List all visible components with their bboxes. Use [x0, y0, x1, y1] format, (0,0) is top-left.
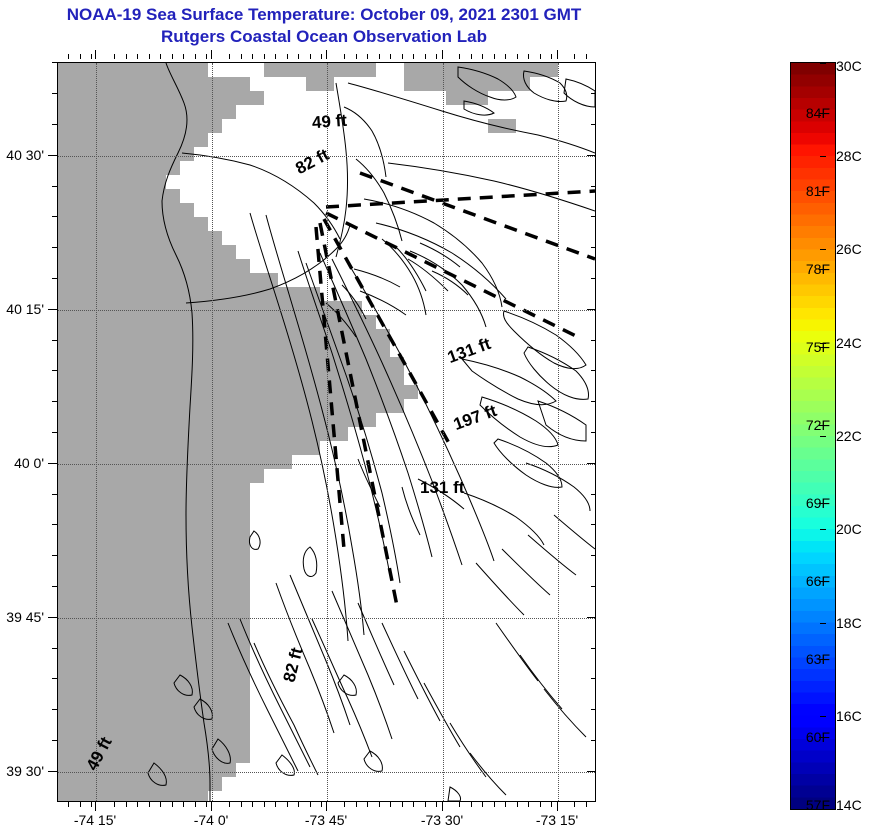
colorbar-gradient [790, 62, 836, 810]
gridline-horizontal [58, 772, 595, 773]
axis-tick-y-right [591, 494, 596, 495]
axis-tick-y-right [591, 186, 596, 187]
axis-label-y-4: 39 30' [0, 763, 44, 779]
axis-tick-y [52, 124, 57, 125]
axis-tick-y-right [591, 524, 596, 525]
axis-tick-x-top [356, 54, 357, 59]
axis-tick-y-right [591, 278, 596, 279]
axis-tick-y [52, 740, 57, 741]
depth-label-49ft-north: 49 ft [311, 111, 347, 133]
axis-tick-x-top-major [95, 50, 96, 59]
axis-tick-x [183, 802, 184, 807]
axis-tick-y-right-major [587, 617, 596, 618]
axis-tick-y [52, 62, 57, 63]
axis-tick-y-right [591, 555, 596, 556]
axis-tick-y-right [591, 586, 596, 587]
axis-tick-x-top [505, 54, 506, 59]
axis-tick-y [52, 555, 57, 556]
axis-tick-x-top [310, 54, 311, 59]
axis-tick-x-major [211, 802, 212, 811]
colorbar-label-30c: 30C [836, 58, 862, 74]
axis-tick-y-right [591, 124, 596, 125]
axis-tick-x-top [68, 54, 69, 59]
axis-tick-y-right [591, 340, 596, 341]
axis-tick-y-major [48, 771, 57, 772]
axis-tick-x-top [229, 54, 230, 59]
axis-tick-x [425, 802, 426, 807]
axis-tick-y-right [591, 432, 596, 433]
axis-tick-x [402, 802, 403, 807]
axis-tick-y-major [48, 309, 57, 310]
axis-tick-x [356, 802, 357, 807]
axis-tick-y [52, 586, 57, 587]
axis-tick-x [206, 802, 207, 807]
gridline-vertical [327, 63, 328, 801]
axis-tick-x-top [494, 54, 495, 59]
axis-tick-y [52, 278, 57, 279]
axis-tick-y-major [48, 155, 57, 156]
axis-tick-y-right [591, 678, 596, 679]
axis-tick-y-right [591, 247, 596, 248]
axis-tick-x [574, 802, 575, 807]
axis-tick-x-top-major [211, 50, 212, 59]
axis-tick-x-top [586, 54, 587, 59]
gridline-horizontal [58, 464, 595, 465]
axis-tick-x [505, 802, 506, 807]
axis-tick-y [52, 247, 57, 248]
colorbar-label-16c: 16C [836, 708, 862, 724]
depth-label-131ft-south: 131 ft [420, 478, 464, 498]
axis-label-x-0: -74 15' [74, 812, 116, 828]
axis-tick-x [229, 802, 230, 807]
axis-tick-x-top [149, 54, 150, 59]
axis-tick-x-top [252, 54, 253, 59]
axis-tick-y [52, 216, 57, 217]
axis-tick-y-right [591, 401, 596, 402]
axis-tick-y [52, 648, 57, 649]
axis-tick-x-top [126, 54, 127, 59]
axis-tick-y-right-major [587, 771, 596, 772]
axis-tick-x [68, 802, 69, 807]
axis-tick-x-top [528, 54, 529, 59]
gridline-vertical [96, 63, 97, 801]
colorbar-label-18c: 18C [836, 615, 862, 631]
axis-tick-y-right [591, 740, 596, 741]
axis-tick-x-top [402, 54, 403, 59]
axis-tick-x [172, 802, 173, 807]
axis-tick-x-top [321, 54, 322, 59]
axis-tick-x [436, 802, 437, 807]
axis-tick-y [52, 678, 57, 679]
axis-tick-x [114, 802, 115, 807]
temperature-colorbar[interactable] [790, 62, 836, 810]
axis-tick-x [91, 802, 92, 807]
axis-tick-x-top [367, 54, 368, 59]
axis-tick-x-top [574, 54, 575, 59]
axis-tick-y [52, 93, 57, 94]
axis-tick-x-top [540, 54, 541, 59]
axis-tick-y-right [591, 216, 596, 217]
axis-tick-x-top [287, 54, 288, 59]
axis-tick-x [390, 802, 391, 807]
axis-tick-x-top [195, 54, 196, 59]
axis-tick-x [551, 802, 552, 807]
axis-tick-x-top [459, 54, 460, 59]
colorbar-label-24c: 24C [836, 335, 862, 351]
axis-tick-x [287, 802, 288, 807]
gridline-vertical [212, 63, 213, 801]
axis-tick-x-top [160, 54, 161, 59]
axis-tick-y [52, 524, 57, 525]
axis-tick-x [517, 802, 518, 807]
axis-label-x-2: -73 45' [305, 812, 347, 828]
axis-tick-x-top [298, 54, 299, 59]
axis-tick-x-top [425, 54, 426, 59]
axis-tick-x [321, 802, 322, 807]
axis-tick-x-top [264, 54, 265, 59]
colorbar-label-28c: 28C [836, 148, 862, 164]
axis-tick-x-top [114, 54, 115, 59]
axis-label-y-2: 40 0' [0, 455, 44, 471]
axis-tick-x-top [80, 54, 81, 59]
axis-tick-x [528, 802, 529, 807]
axis-tick-y-major [48, 617, 57, 618]
axis-label-x-1: -74 0' [194, 812, 229, 828]
axis-tick-x-top [379, 54, 380, 59]
axis-tick-y [52, 340, 57, 341]
axis-tick-x-top [206, 54, 207, 59]
axis-tick-x [195, 802, 196, 807]
axis-tick-x [494, 802, 495, 807]
axis-tick-y-right-major [587, 463, 596, 464]
axis-label-y-0: 40 30' [0, 147, 44, 163]
axis-tick-y-right [591, 709, 596, 710]
gridline-vertical [558, 63, 559, 801]
axis-tick-x-major [95, 802, 96, 811]
axis-tick-x [413, 802, 414, 807]
axis-tick-x-top [436, 54, 437, 59]
axis-label-y-1: 40 15' [0, 301, 44, 317]
title-line-1: NOAA-19 Sea Surface Temperature: October… [0, 4, 648, 26]
colorbar-label-14c: 14C [836, 797, 862, 813]
axis-label-x-3: -73 30' [421, 812, 463, 828]
axis-tick-x [586, 802, 587, 807]
title-line-2: Rutgers Coastal Ocean Observation Lab [0, 26, 648, 48]
axis-tick-x-top [471, 54, 472, 59]
axis-tick-y-major [48, 463, 57, 464]
axis-tick-x-top [482, 54, 483, 59]
axis-tick-x-major [326, 802, 327, 811]
axis-tick-x-top [344, 54, 345, 59]
axis-tick-x-top-major [442, 50, 443, 59]
axis-tick-y [52, 709, 57, 710]
axis-label-x-4: -73 15' [536, 812, 578, 828]
axis-tick-x [126, 802, 127, 807]
axis-tick-x-top [183, 54, 184, 59]
gridline-horizontal [58, 310, 595, 311]
axis-tick-y [52, 401, 57, 402]
axis-tick-x-top [91, 54, 92, 59]
axis-tick-y [52, 432, 57, 433]
axis-tick-x-top-major [326, 50, 327, 59]
axis-tick-x [310, 802, 311, 807]
map-plot-area[interactable] [57, 62, 596, 802]
axis-tick-x-top [275, 54, 276, 59]
axis-tick-x [252, 802, 253, 807]
axis-label-y-3: 39 45' [0, 609, 44, 625]
axis-tick-x [471, 802, 472, 807]
axis-tick-x [459, 802, 460, 807]
gridline-horizontal [58, 618, 595, 619]
gridline-vertical [443, 63, 444, 801]
axis-tick-x-top [241, 54, 242, 59]
axis-tick-x [264, 802, 265, 807]
axis-tick-x-top-major [557, 50, 558, 59]
axis-tick-x [367, 802, 368, 807]
axis-tick-y [52, 494, 57, 495]
axis-tick-y-right [591, 648, 596, 649]
axis-tick-x [160, 802, 161, 807]
axis-tick-x [80, 802, 81, 807]
axis-tick-x [275, 802, 276, 807]
axis-tick-y-right-major [587, 155, 596, 156]
axis-tick-x [540, 802, 541, 807]
axis-tick-x-top [517, 54, 518, 59]
axis-tick-x [298, 802, 299, 807]
axis-tick-x-top [390, 54, 391, 59]
axis-tick-x-major [442, 802, 443, 811]
axis-tick-y-right [591, 93, 596, 94]
axis-tick-y [52, 186, 57, 187]
axis-tick-y-right [591, 370, 596, 371]
axis-tick-y-right-major [587, 309, 596, 310]
axis-tick-x-major [557, 802, 558, 811]
axis-tick-x-top [413, 54, 414, 59]
axis-tick-x [344, 802, 345, 807]
page-title: NOAA-19 Sea Surface Temperature: October… [0, 4, 648, 48]
axis-tick-x-top [137, 54, 138, 59]
axis-tick-y [52, 370, 57, 371]
colorbar-label-22c: 22C [836, 428, 862, 444]
axis-tick-x [149, 802, 150, 807]
axis-tick-x-top [172, 54, 173, 59]
axis-tick-x [241, 802, 242, 807]
colorbar-label-20c: 20C [836, 521, 862, 537]
colorbar-label-26c: 26C [836, 241, 862, 257]
axis-tick-x [379, 802, 380, 807]
axis-tick-x [482, 802, 483, 807]
axis-tick-x-top [551, 54, 552, 59]
axis-tick-x [137, 802, 138, 807]
